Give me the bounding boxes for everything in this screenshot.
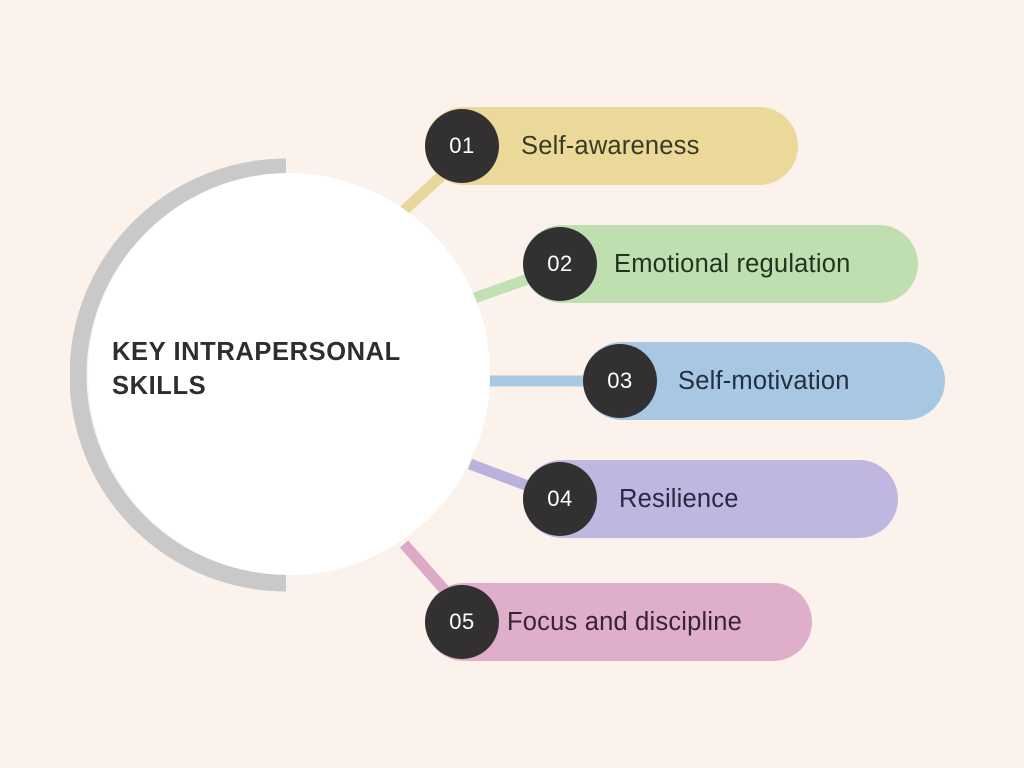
badge-03[interactable]: 03 bbox=[583, 344, 657, 418]
list-item[interactable]: 03 Self-motivation bbox=[583, 342, 945, 420]
list-item[interactable]: 02 Emotional regulation bbox=[523, 225, 918, 303]
badge-number-03: 03 bbox=[607, 368, 632, 394]
pill-label-03: Self-motivation bbox=[678, 342, 850, 420]
infographic-canvas: KEY INTRAPERSONAL SKILLS 01 Self-awarene… bbox=[0, 0, 1024, 768]
badge-number-01: 01 bbox=[449, 133, 474, 159]
list-item[interactable]: 01 Self-awareness bbox=[425, 107, 798, 185]
list-item[interactable]: 04 Resilience bbox=[523, 460, 898, 538]
list-item[interactable]: 05 Focus and discipline bbox=[425, 583, 812, 661]
badge-05[interactable]: 05 bbox=[425, 585, 499, 659]
badge-04[interactable]: 04 bbox=[523, 462, 597, 536]
badge-number-05: 05 bbox=[449, 609, 474, 635]
pill-label-02: Emotional regulation bbox=[614, 225, 850, 303]
page-title: KEY INTRAPERSONAL SKILLS bbox=[112, 335, 477, 404]
pill-label-05: Focus and discipline bbox=[507, 583, 742, 661]
pill-label-01: Self-awareness bbox=[521, 107, 700, 185]
badge-number-04: 04 bbox=[547, 486, 572, 512]
badge-number-02: 02 bbox=[547, 251, 572, 277]
pill-label-04: Resilience bbox=[619, 460, 739, 538]
center-hub: KEY INTRAPERSONAL SKILLS bbox=[70, 155, 490, 595]
badge-01[interactable]: 01 bbox=[425, 109, 499, 183]
badge-02[interactable]: 02 bbox=[523, 227, 597, 301]
